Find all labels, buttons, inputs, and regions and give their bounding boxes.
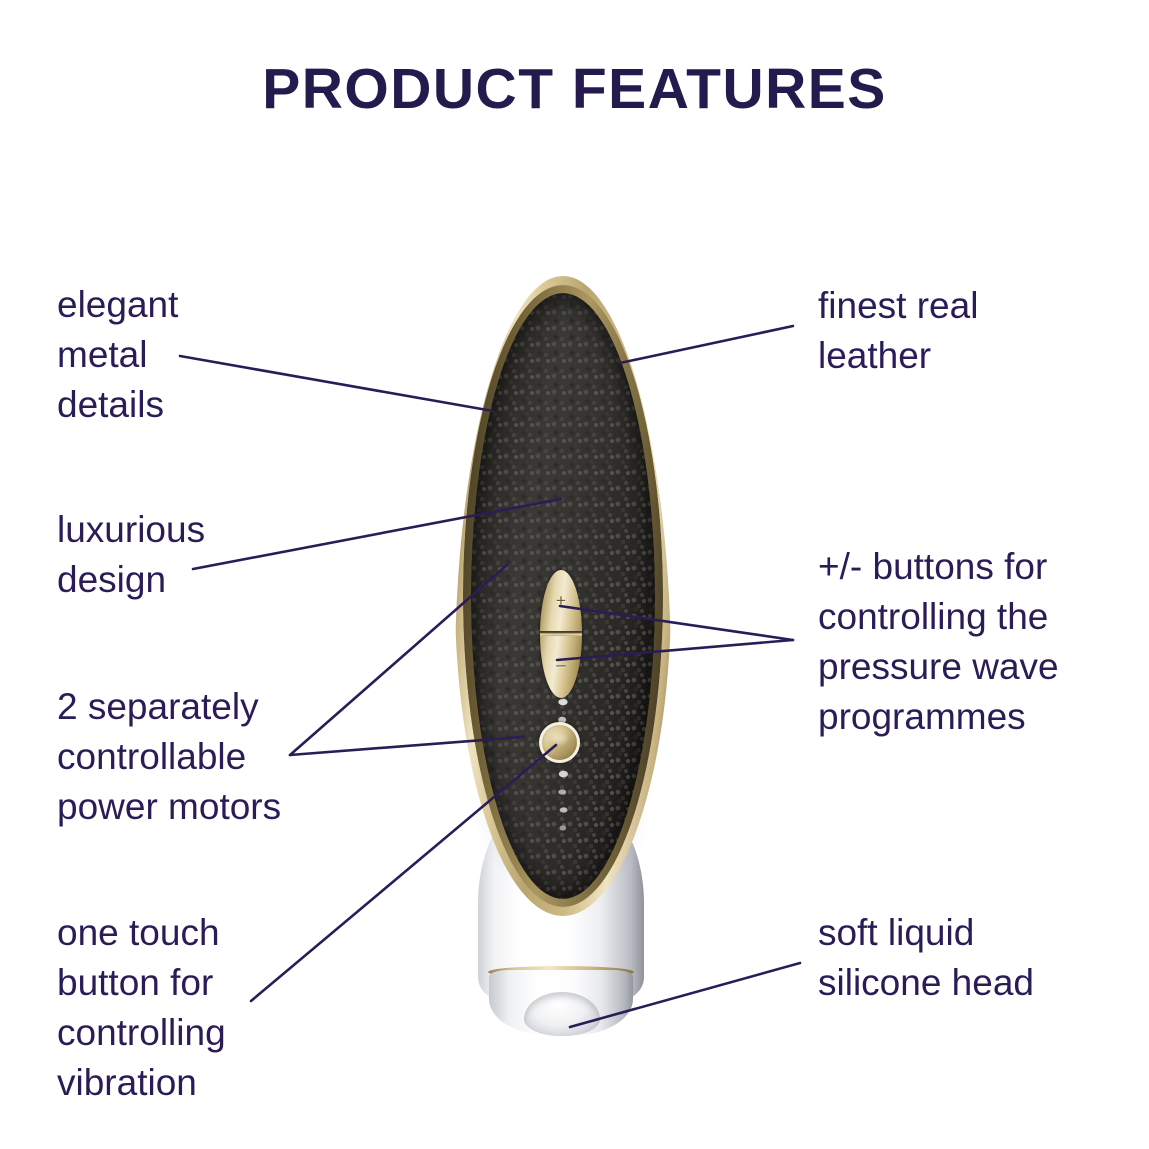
callout-luxurious-design: luxurious design bbox=[57, 505, 357, 605]
product-features-infographic: PRODUCT FEATURES + – elegant metal detai… bbox=[0, 0, 1149, 1149]
product-image: + – bbox=[432, 276, 694, 1038]
plus-button[interactable]: + bbox=[556, 592, 566, 609]
plus-minus-divider bbox=[540, 631, 582, 636]
one-touch-power-button[interactable] bbox=[539, 722, 580, 763]
page-title: PRODUCT FEATURES bbox=[0, 56, 1149, 122]
callout-soft-liquid-silicone-head: soft liquid silicone head bbox=[818, 908, 1148, 1008]
callout-elegant-metal-details: elegant metal details bbox=[57, 280, 357, 430]
callout-plus-minus-buttons: +/- buttons for controlling the pressure… bbox=[818, 542, 1148, 742]
leather-pearl-spine bbox=[553, 693, 573, 843]
minus-button[interactable]: – bbox=[556, 656, 565, 673]
callout-finest-real-leather: finest real leather bbox=[818, 281, 1138, 381]
callout-one-touch-button: one touch button for controlling vibrati… bbox=[57, 908, 377, 1108]
callout-separately-controllable-power-motors: 2 separately controllable power motors bbox=[57, 682, 387, 832]
plus-minus-button-panel[interactable]: + – bbox=[540, 570, 582, 698]
